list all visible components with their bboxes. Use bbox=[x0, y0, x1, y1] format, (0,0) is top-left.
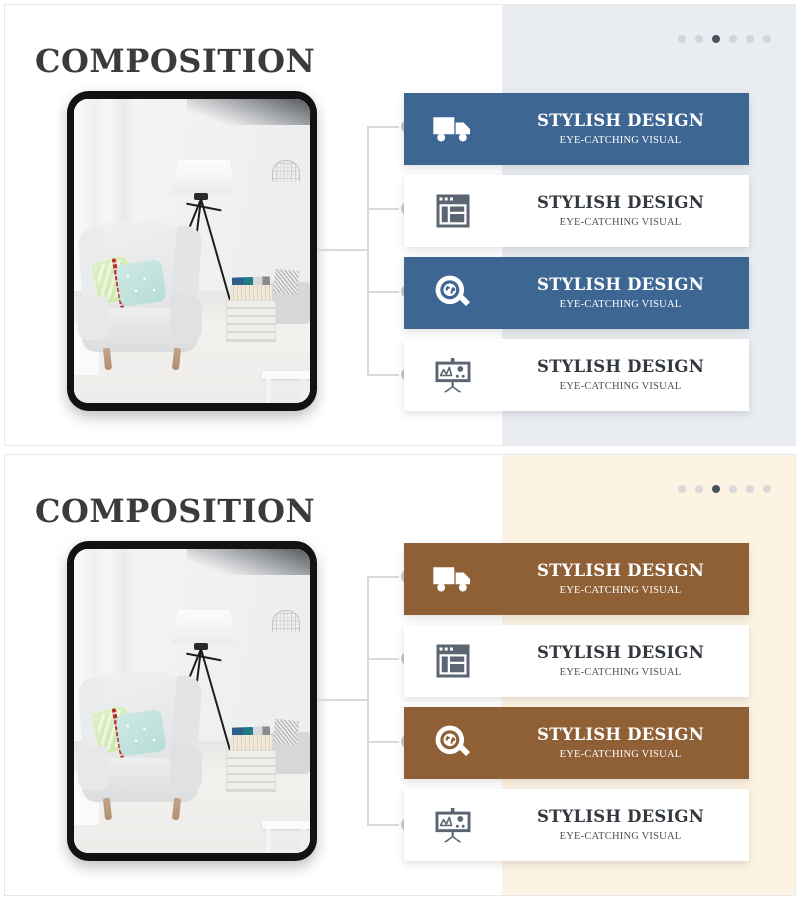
pagination-dots[interactable] bbox=[678, 35, 771, 43]
pagination-dot-2[interactable] bbox=[695, 35, 703, 43]
crate-side-table-2 bbox=[226, 750, 276, 792]
feature-card-4-subtitle: EYE-CATCHING VISUAL bbox=[502, 381, 739, 392]
magnifier-globe-icon-2 bbox=[404, 724, 502, 762]
teal-pillow-2 bbox=[115, 709, 166, 757]
pagination-dot-5[interactable] bbox=[746, 35, 754, 43]
armchair bbox=[78, 222, 202, 370]
pagination-dot-3-active[interactable] bbox=[712, 35, 720, 43]
feature-card-2-3-text: STYLISH DESIGN EYE-CATCHING VISUAL bbox=[502, 726, 749, 761]
connector-trunk-horizontal-2 bbox=[317, 699, 367, 701]
browser-window-layout-icon bbox=[404, 193, 502, 229]
delivery-truck-icon bbox=[404, 113, 502, 145]
slide-2-canvas: COMPOSITION bbox=[4, 454, 796, 896]
teal-pillow bbox=[115, 259, 166, 307]
feature-card-2-1-text: STYLISH DESIGN EYE-CATCHING VISUAL bbox=[502, 562, 749, 597]
pagination-dot-2-5[interactable] bbox=[746, 485, 754, 493]
feature-card-3-text: STYLISH DESIGN EYE-CATCHING VISUAL bbox=[502, 276, 749, 311]
wire-wall-basket-2 bbox=[272, 610, 300, 632]
feature-card-2-subtitle: EYE-CATCHING VISUAL bbox=[502, 217, 739, 228]
presentation-chart-icon-2 bbox=[404, 808, 502, 843]
tablet-device-mockup bbox=[67, 91, 317, 411]
feature-card-3-subtitle: EYE-CATCHING VISUAL bbox=[502, 299, 739, 310]
pagination-dot-2-2[interactable] bbox=[695, 485, 703, 493]
lamp-shade bbox=[172, 160, 236, 194]
connector-trunk-horizontal bbox=[317, 249, 367, 251]
pagination-dots-2[interactable] bbox=[678, 485, 771, 493]
page-title: COMPOSITION bbox=[35, 42, 315, 80]
feature-card-3-title: STYLISH DESIGN bbox=[502, 276, 739, 295]
feature-card-4[interactable]: STYLISH DESIGN EYE-CATCHING VISUAL bbox=[404, 339, 749, 411]
white-coffee-table bbox=[262, 371, 310, 379]
feature-card-list-2: STYLISH DESIGN EYE-CATCHING VISUAL bbox=[404, 543, 749, 871]
feature-card-2-2-subtitle: EYE-CATCHING VISUAL bbox=[502, 667, 739, 678]
feature-card-2-4-subtitle: EYE-CATCHING VISUAL bbox=[502, 831, 739, 842]
pagination-dot-1[interactable] bbox=[678, 35, 686, 43]
connector-trunk-vertical bbox=[367, 126, 369, 374]
armchair-leg-right-2 bbox=[172, 797, 181, 820]
crate-side-table bbox=[226, 300, 276, 342]
armchair-leg-right bbox=[172, 347, 181, 370]
connector-tree bbox=[317, 91, 413, 411]
feature-card-1[interactable]: STYLISH DESIGN EYE-CATCHING VISUAL bbox=[404, 93, 749, 165]
slide-1: COMPOSITION bbox=[0, 0, 800, 450]
patterned-cushion-2 bbox=[273, 719, 299, 745]
feature-card-2-3-title: STYLISH DESIGN bbox=[502, 726, 739, 745]
armchair-2 bbox=[78, 672, 202, 820]
feature-card-1-text: STYLISH DESIGN EYE-CATCHING VISUAL bbox=[502, 112, 749, 147]
slide-1-canvas: COMPOSITION bbox=[4, 4, 796, 446]
feature-card-2[interactable]: STYLISH DESIGN EYE-CATCHING VISUAL bbox=[404, 175, 749, 247]
pagination-dot-2-3-active[interactable] bbox=[712, 485, 720, 493]
living-room-photo-2 bbox=[74, 549, 310, 853]
feature-card-4-text: STYLISH DESIGN EYE-CATCHING VISUAL bbox=[502, 358, 749, 393]
feature-card-2-4-title: STYLISH DESIGN bbox=[502, 808, 739, 827]
white-coffee-table-2 bbox=[262, 821, 310, 829]
armchair-wing-right-2 bbox=[171, 675, 202, 755]
lamp-shade-2 bbox=[172, 610, 236, 644]
feature-card-2-3[interactable]: STYLISH DESIGN EYE-CATCHING VISUAL bbox=[404, 707, 749, 779]
magnifier-globe-icon bbox=[404, 274, 502, 312]
feature-card-2-text: STYLISH DESIGN EYE-CATCHING VISUAL bbox=[502, 194, 749, 229]
feature-card-list: STYLISH DESIGN EYE-CATCHING VISUAL bbox=[404, 93, 749, 421]
feature-card-2-2-text: STYLISH DESIGN EYE-CATCHING VISUAL bbox=[502, 644, 749, 679]
connector-tree-2 bbox=[317, 541, 413, 861]
delivery-truck-icon-2 bbox=[404, 563, 502, 595]
feature-card-4-title: STYLISH DESIGN bbox=[502, 358, 739, 377]
feature-card-2-4-text: STYLISH DESIGN EYE-CATCHING VISUAL bbox=[502, 808, 749, 843]
browser-window-layout-icon-2 bbox=[404, 643, 502, 679]
feature-card-1-subtitle: EYE-CATCHING VISUAL bbox=[502, 135, 739, 146]
wire-wall-basket bbox=[272, 160, 300, 182]
pagination-dot-6[interactable] bbox=[763, 35, 771, 43]
armchair-wing-right bbox=[171, 225, 202, 305]
armchair-arm-left-2 bbox=[78, 746, 108, 790]
armchair-arm-left bbox=[78, 296, 108, 340]
pagination-dot-4[interactable] bbox=[729, 35, 737, 43]
slide-2: COMPOSITION bbox=[0, 450, 800, 900]
feature-card-3[interactable]: STYLISH DESIGN EYE-CATCHING VISUAL bbox=[404, 257, 749, 329]
feature-card-2-2-title: STYLISH DESIGN bbox=[502, 644, 739, 663]
page-title-2: COMPOSITION bbox=[35, 492, 315, 530]
feature-card-1-title: STYLISH DESIGN bbox=[502, 112, 739, 131]
patterned-cushion bbox=[273, 269, 299, 295]
feature-card-2-title: STYLISH DESIGN bbox=[502, 194, 739, 213]
tablet-screen-2 bbox=[74, 549, 310, 853]
connector-trunk-vertical-2 bbox=[367, 576, 369, 824]
armchair-arm-right bbox=[170, 294, 202, 340]
feature-card-2-2[interactable]: STYLISH DESIGN EYE-CATCHING VISUAL bbox=[404, 625, 749, 697]
tablet-device-mockup-2 bbox=[67, 541, 317, 861]
slide-deck: COMPOSITION bbox=[0, 0, 800, 900]
presentation-chart-icon bbox=[404, 358, 502, 393]
tablet-screen bbox=[74, 99, 310, 403]
living-room-photo bbox=[74, 99, 310, 403]
armchair-arm-right-2 bbox=[170, 744, 202, 790]
feature-card-2-1-subtitle: EYE-CATCHING VISUAL bbox=[502, 585, 739, 596]
feature-card-2-4[interactable]: STYLISH DESIGN EYE-CATCHING VISUAL bbox=[404, 789, 749, 861]
feature-card-2-3-subtitle: EYE-CATCHING VISUAL bbox=[502, 749, 739, 760]
feature-card-2-1-title: STYLISH DESIGN bbox=[502, 562, 739, 581]
pagination-dot-2-1[interactable] bbox=[678, 485, 686, 493]
pagination-dot-2-4[interactable] bbox=[729, 485, 737, 493]
pagination-dot-2-6[interactable] bbox=[763, 485, 771, 493]
feature-card-2-1[interactable]: STYLISH DESIGN EYE-CATCHING VISUAL bbox=[404, 543, 749, 615]
